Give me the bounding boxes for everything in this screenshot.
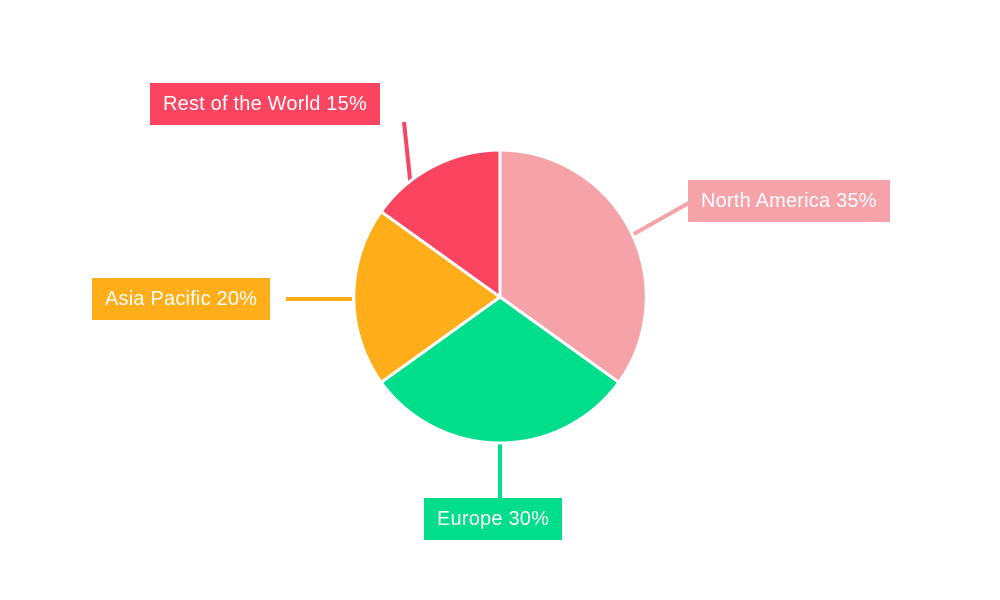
pie-label-north-america[interactable]: North America 35% (688, 180, 890, 222)
pie-label-asia-pacific[interactable]: Asia Pacific 20% (92, 278, 270, 320)
pie-label-rest-of-world[interactable]: Rest of the World 15% (150, 83, 380, 125)
pie-chart-figure: North America 35% Europe 30% Asia Pacifi… (0, 0, 1000, 600)
pie-label-europe-text: Europe 30% (437, 509, 549, 529)
pie-label-rest-of-world-text: Rest of the World 15% (163, 94, 367, 114)
leader-line-north-america (632, 200, 694, 235)
pie-label-north-america-text: North America 35% (701, 191, 877, 211)
pie-slices (354, 150, 647, 443)
pie-label-europe[interactable]: Europe 30% (424, 498, 562, 540)
pie-label-asia-pacific-text: Asia Pacific 20% (105, 289, 257, 309)
